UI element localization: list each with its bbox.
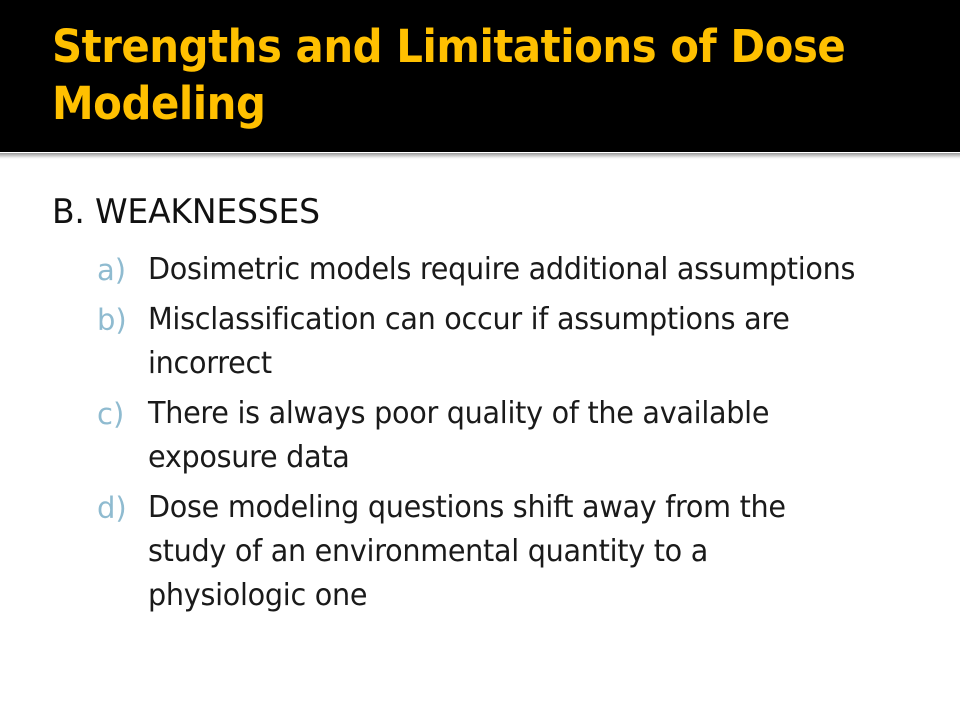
list-item-marker: b): [97, 298, 141, 342]
slide: Strengths and Limitations of Dose Modeli…: [0, 0, 960, 720]
list-item: b) Misclassification can occur if assump…: [0, 298, 960, 386]
list-item: a) Dosimetric models require additional …: [0, 248, 960, 292]
slide-title: Strengths and Limitations of Dose Modeli…: [52, 18, 870, 132]
title-band: Strengths and Limitations of Dose Modeli…: [0, 0, 960, 152]
list-item-text: Misclassification can occur if assumptio…: [148, 298, 866, 386]
slide-body: B. WEAKNESSES a) Dosimetric models requi…: [0, 160, 960, 720]
list-item-marker: d): [97, 486, 141, 530]
list-item-text: Dose modeling questions shift away from …: [148, 486, 866, 618]
list-item-text: Dosimetric models require additional ass…: [148, 248, 866, 292]
section-heading: B. WEAKNESSES: [52, 192, 320, 232]
weaknesses-list: a) Dosimetric models require additional …: [0, 248, 960, 624]
list-item-marker: c): [97, 392, 141, 436]
list-item-marker: a): [97, 248, 141, 292]
list-item: c) There is always poor quality of the a…: [0, 392, 960, 480]
list-item: d) Dose modeling questions shift away fr…: [0, 486, 960, 618]
list-item-text: There is always poor quality of the avai…: [148, 392, 866, 480]
title-divider: [0, 152, 960, 160]
